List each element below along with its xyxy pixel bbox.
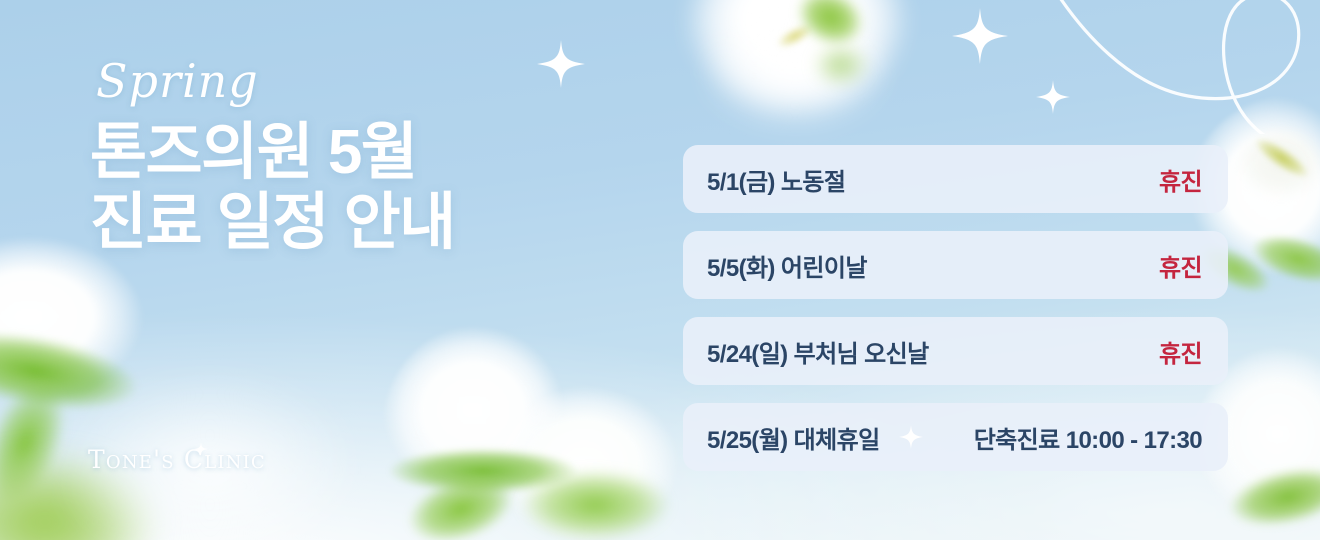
headline-block: Spring 톤즈의원 5월 진료 일정 안내	[90, 58, 610, 258]
status-badge: 휴진	[1159, 248, 1202, 283]
schedule-row[interactable]: 5/24(일) 부처님 오신날 휴진	[683, 317, 1228, 385]
status-badge: 휴진	[1159, 334, 1202, 369]
schedule-date: 5/1(금) 노동절	[707, 162, 845, 197]
brand-logo-text: Tone's Clinic	[88, 445, 266, 474]
schedule-row[interactable]: 5/25(월) 대체휴일 단축진료 10:00 - 17:30	[683, 403, 1228, 471]
schedule-date: 5/24(일) 부처님 오신날	[707, 334, 929, 369]
schedule-date: 5/25(월) 대체휴일	[707, 420, 880, 455]
schedule-row[interactable]: 5/5(화) 어린이날 휴진	[683, 231, 1228, 299]
clinic-schedule-banner: Spring 톤즈의원 5월 진료 일정 안내 Tone's Clinic 5/…	[0, 0, 1320, 540]
schedule-row[interactable]: 5/1(금) 노동절 휴진	[683, 145, 1228, 213]
schedule-list: 5/1(금) 노동절 휴진 5/5(화) 어린이날 휴진 5/24(일) 부처님…	[683, 145, 1228, 471]
schedule-date: 5/5(화) 어린이날	[707, 248, 867, 283]
headline-line-2: 진료 일정 안내	[90, 188, 610, 258]
page-title: 톤즈의원 5월 진료 일정 안내	[90, 118, 610, 258]
status-badge: 휴진	[1159, 162, 1202, 197]
headline-line-1: 톤즈의원 5월	[90, 118, 416, 187]
sparkle-divider	[898, 424, 924, 450]
brand-logo: Tone's Clinic	[88, 445, 266, 474]
eyebrow-spring: Spring	[96, 58, 610, 104]
sparkle-icon	[194, 442, 208, 456]
sparkle-icon	[898, 424, 924, 450]
status-badge: 단축진료 10:00 - 17:30	[974, 420, 1202, 455]
